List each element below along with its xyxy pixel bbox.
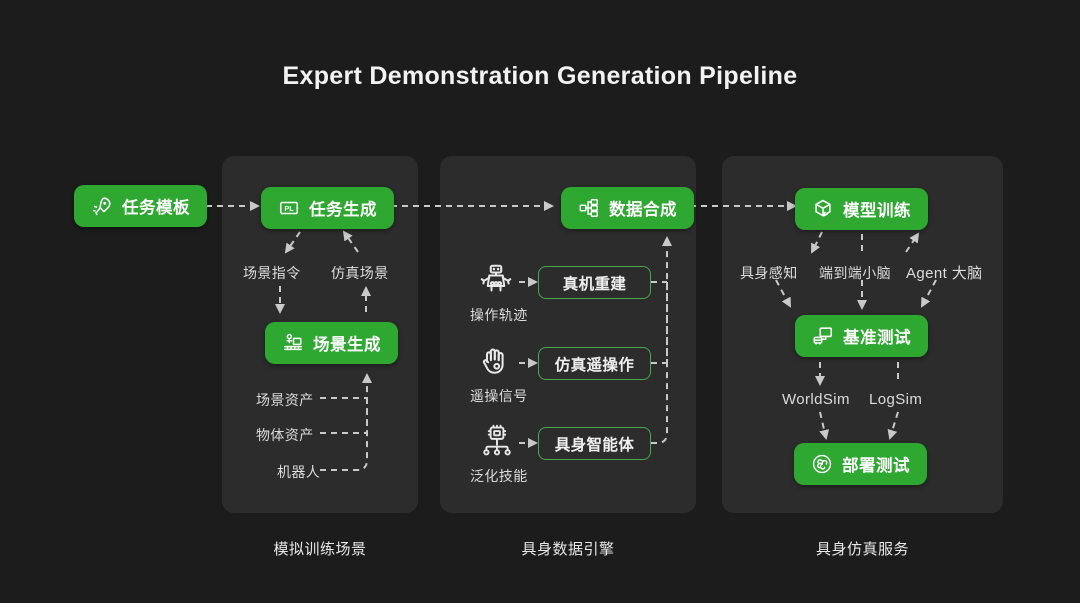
pipeline-diagram: Expert Demonstration Generation Pipeline <box>0 0 1080 603</box>
note-agent-brain: Agent 大脑 <box>906 262 983 283</box>
note-scene-asset: 场景资产 <box>256 390 314 410</box>
pill-task-generation[interactable]: PL 任务生成 <box>261 187 394 229</box>
chip-simulated-teleoperation[interactable]: 仿真遥操作 <box>538 347 651 380</box>
scene-robot-icon <box>282 332 304 354</box>
rocket-icon <box>91 195 113 217</box>
pill-benchmark-test[interactable]: 基准测试 <box>795 315 928 357</box>
pill-label: 部署测试 <box>842 452 910 476</box>
pill-model-training[interactable]: 模型训练 <box>795 188 928 230</box>
note-generalization-skill: 泛化技能 <box>470 466 528 486</box>
robot-icon <box>478 262 514 298</box>
note-worldsim: WorldSim <box>782 391 850 408</box>
pill-scene-generation[interactable]: 场景生成 <box>265 322 398 364</box>
pill-label: 数据合成 <box>609 196 677 220</box>
note-scene-instruction: 场景指令 <box>243 263 301 283</box>
pill-label: 模型训练 <box>843 197 911 221</box>
cube-arrow-icon <box>812 198 834 220</box>
note-logsim: LogSim <box>869 391 922 408</box>
chip-real-machine-reconstruction[interactable]: 真机重建 <box>538 266 651 299</box>
page-title: Expert Demonstration Generation Pipeline <box>0 62 1080 91</box>
pill-label: 场景生成 <box>313 331 381 355</box>
note-teleoperation-signal: 遥操信号 <box>470 386 528 406</box>
chip-label: 仿真遥操作 <box>555 353 635 375</box>
note-operation-trajectory: 操作轨迹 <box>470 305 528 325</box>
swirl-circle-icon <box>811 453 833 475</box>
pill-label: 任务模板 <box>122 194 190 218</box>
chip-embodied-agent[interactable]: 具身智能体 <box>538 427 651 460</box>
glove-icon <box>478 343 514 379</box>
caption-panel-3: 具身仿真服务 <box>722 538 1003 559</box>
caption-panel-2: 具身数据引擎 <box>440 538 696 559</box>
note-embodied-perception: 具身感知 <box>740 263 798 283</box>
pill-label: 任务生成 <box>309 196 377 220</box>
pl-frame-icon: PL <box>278 197 300 219</box>
note-object-asset: 物体资产 <box>256 425 314 445</box>
caption-panel-1: 模拟训练场景 <box>222 538 418 559</box>
data-sitemap-icon <box>578 197 600 219</box>
pill-data-synthesis[interactable]: 数据合成 <box>561 187 694 229</box>
note-simulated-scene: 仿真场景 <box>331 263 389 283</box>
pill-deployment-test[interactable]: 部署测试 <box>794 443 927 485</box>
cpu-network-icon <box>480 424 514 458</box>
chip-label: 具身智能体 <box>555 433 635 455</box>
pill-task-template[interactable]: 任务模板 <box>74 185 207 227</box>
chip-label: 真机重建 <box>563 272 627 294</box>
note-end-to-end-cerebellum: 端到端小脑 <box>819 263 891 283</box>
monitor-device-icon <box>812 325 834 347</box>
note-robot: 机器人 <box>277 462 320 482</box>
svg-text:PL: PL <box>284 204 294 213</box>
pill-label: 基准测试 <box>843 324 911 348</box>
